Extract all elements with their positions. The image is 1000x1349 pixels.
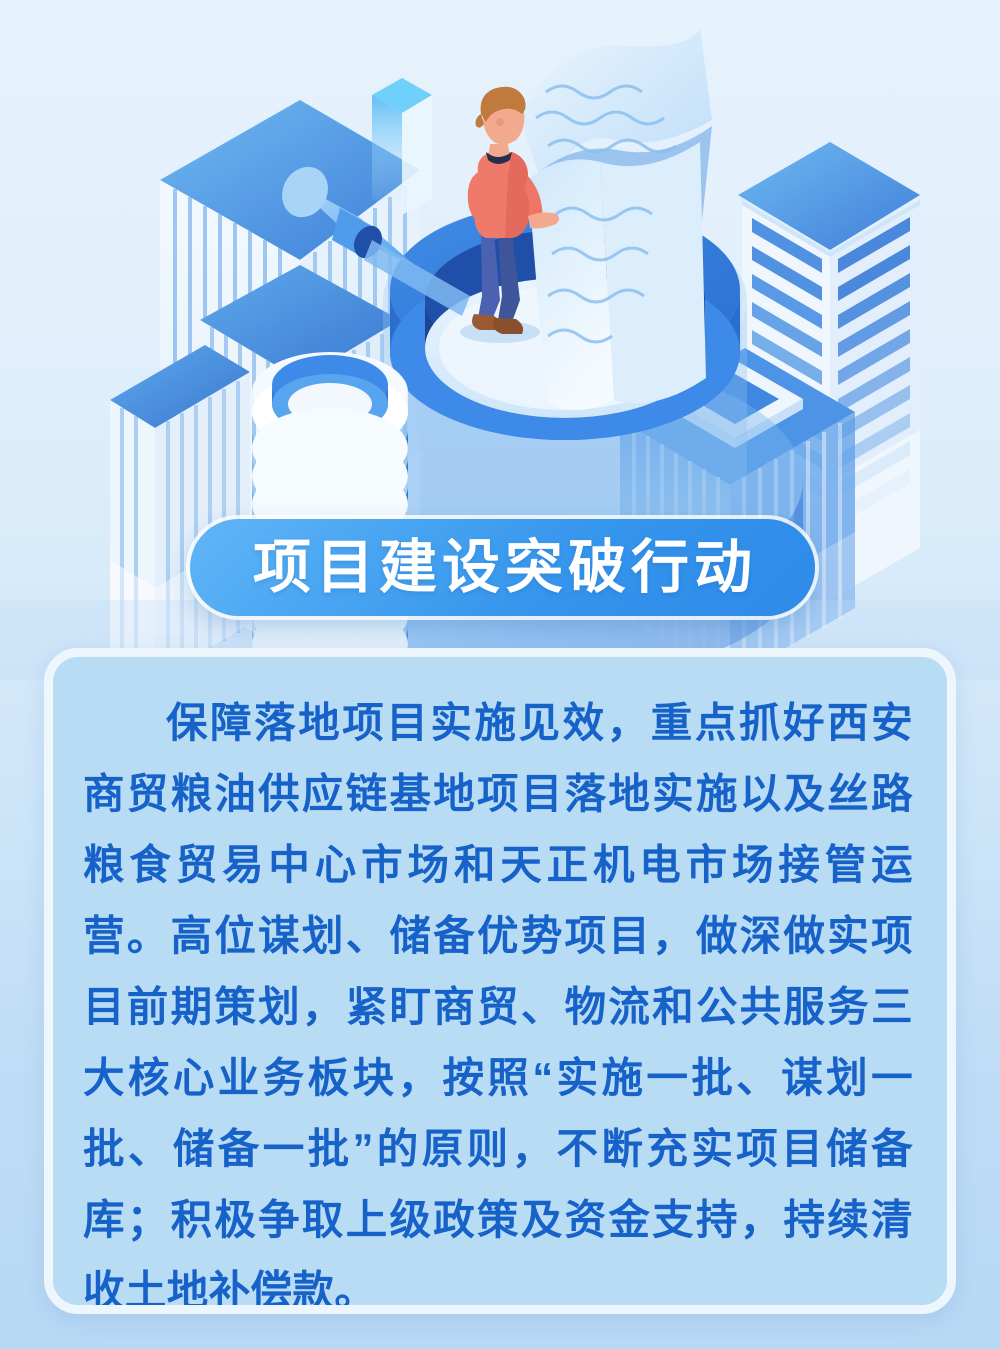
building-small-center bbox=[372, 78, 432, 215]
title-badge: 项目建设突破行动 bbox=[190, 519, 815, 616]
title-badge-label: 项目建设突破行动 bbox=[248, 539, 757, 597]
content-card-body: 保障落地项目实施见效，重点抓好西安商贸粮油供应链基地项目落地实施以及丝路粮食贸易… bbox=[53, 657, 947, 1314]
content-card: 保障落地项目实施见效，重点抓好西安商贸粮油供应链基地项目落地实施以及丝路粮食贸易… bbox=[44, 648, 956, 1314]
content-paragraph: 保障落地项目实施见效，重点抓好西安商贸粮油供应链基地项目落地实施以及丝路粮食贸易… bbox=[83, 687, 913, 1314]
